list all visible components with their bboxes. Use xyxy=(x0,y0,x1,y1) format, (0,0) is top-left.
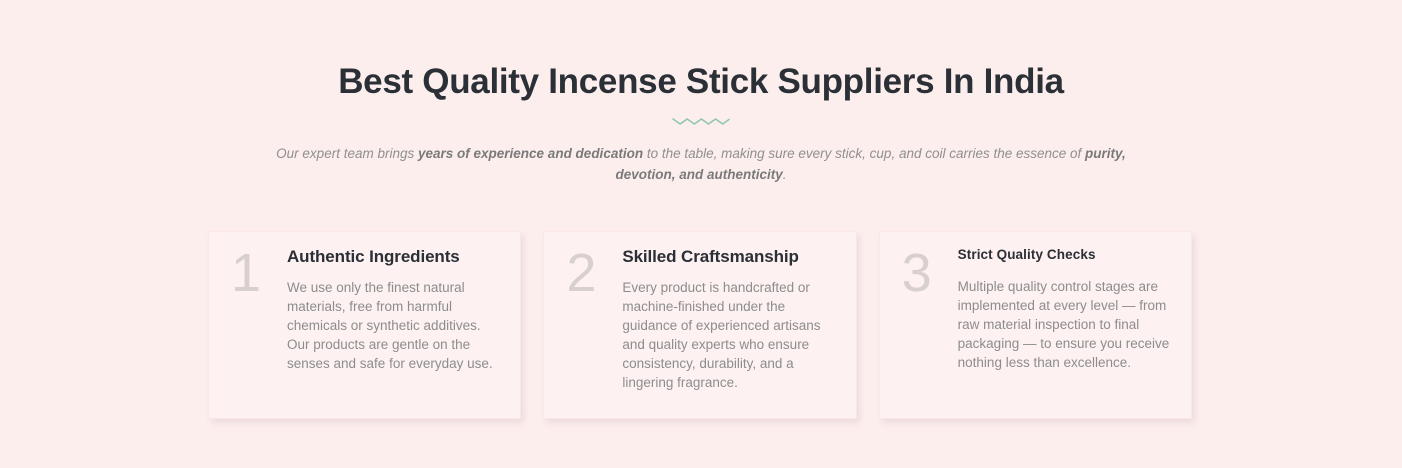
card-title: Skilled Craftsmanship xyxy=(622,246,835,268)
card-description: Every product is handcrafted or machine-… xyxy=(622,278,835,392)
card-body: Authentic Ingredients We use only the fi… xyxy=(287,246,500,373)
page-root: Best Quality Incense Stick Suppliers In … xyxy=(0,0,1402,468)
card-number: 2 xyxy=(566,246,596,300)
card-body: Skilled Craftsmanship Every product is h… xyxy=(622,246,835,392)
subtitle-part-1: Our expert team brings xyxy=(276,146,418,161)
card-title: Authentic Ingredients xyxy=(287,246,500,268)
card-description: Multiple quality control stages are impl… xyxy=(958,277,1171,372)
subtitle-emphasis-1: years of experience and dedication xyxy=(418,146,643,161)
card-number: 1 xyxy=(231,246,261,300)
feature-cards-row: 1 Authentic Ingredients We use only the … xyxy=(208,231,1192,419)
card-body: Strict Quality Checks Multiple quality c… xyxy=(958,246,1171,372)
card-description: We use only the finest natural materials… xyxy=(287,278,500,373)
feature-card[interactable]: 2 Skilled Craftsmanship Every product is… xyxy=(543,231,856,419)
feature-card[interactable]: 3 Strict Quality Checks Multiple quality… xyxy=(879,231,1192,419)
subtitle-part-3: . xyxy=(783,167,787,182)
zigzag-wave-divider xyxy=(0,112,1402,130)
subtitle-part-2: to the table, making sure every stick, c… xyxy=(643,146,1085,161)
zigzag-wave-icon xyxy=(672,115,730,127)
section-subtitle: Our expert team brings years of experien… xyxy=(251,143,1151,185)
card-number: 3 xyxy=(902,246,932,300)
card-title: Strict Quality Checks xyxy=(958,246,1171,264)
page-title: Best Quality Incense Stick Suppliers In … xyxy=(0,60,1402,104)
feature-card[interactable]: 1 Authentic Ingredients We use only the … xyxy=(208,231,521,419)
